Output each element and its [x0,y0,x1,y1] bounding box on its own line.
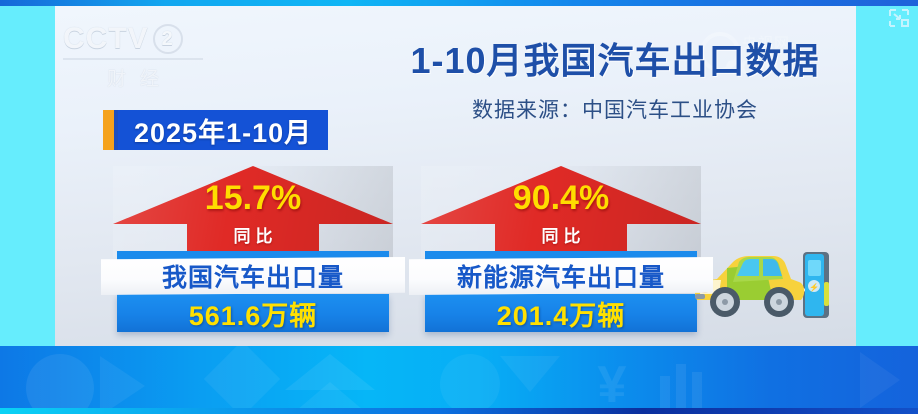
stat-name-text: 我国汽车出口量 [162,258,344,294]
content-stage: CCTV 2 财经 央视网 .com 1-10月我国汽车出口数据 数据来源：中国… [55,6,856,346]
cctv-logo-number: 2 [153,24,183,54]
cctv-logo-text: CCTV [63,22,149,56]
left-cyan-band [0,6,55,346]
cctv-channel-logo: CCTV 2 财经 [63,22,213,96]
date-badge: 2025年1-10月 [103,110,328,150]
cctv-logo-subtitle: 财经 [63,64,203,91]
svg-text:¥: ¥ [598,356,627,414]
date-badge-accent-orange [103,110,114,150]
page-subtitle: 数据来源：中国汽车工业协会 [385,94,845,124]
stat-value-text: 561.6万辆 [189,294,318,333]
growth-yoy-label: 同比 [421,222,701,247]
growth-arrow-wrap: 15.7% 同比 [113,166,393,258]
right-cyan-band [856,6,918,346]
page-title: 1-10月我国汽车出口数据 [385,32,845,84]
stat-value-bar: 201.4万辆 [425,294,697,332]
cctv-logo-underline [63,58,203,60]
stat-name-bar: 新能源汽车出口量 [409,257,713,295]
growth-percent: 15.7% [113,179,393,218]
cctv-logo-row: CCTV 2 [63,22,213,56]
stat-block-nev-exports: 90.4% 同比 新能源汽车出口量 201.4万辆 [421,166,701,332]
restore-screen-icon[interactable] [888,8,910,28]
stat-name-bar: 我国汽车出口量 [101,257,405,295]
stat-name-text: 新能源汽车出口量 [457,258,665,294]
growth-arrow-wrap: 90.4% 同比 [421,166,701,258]
growth-percent: 90.4% [421,179,701,218]
stat-value-bar: 561.6万辆 [117,294,389,332]
growth-yoy-label: 同比 [113,222,393,247]
headline-block: 1-10月我国汽车出口数据 数据来源：中国汽车工业协会 [385,32,845,124]
bottom-banner: ¥ [0,346,918,414]
stat-block-total-exports: 15.7% 同比 我国汽车出口量 561.6万辆 [113,166,393,332]
bottom-accent-strip [0,408,918,414]
date-badge-label: 2025年1-10月 [118,110,328,150]
stat-value-text: 201.4万辆 [497,294,626,333]
svg-text:⚡: ⚡ [809,282,819,292]
broadcast-screen: CCTV 2 财经 央视网 .com 1-10月我国汽车出口数据 数据来源：中国… [0,0,918,414]
